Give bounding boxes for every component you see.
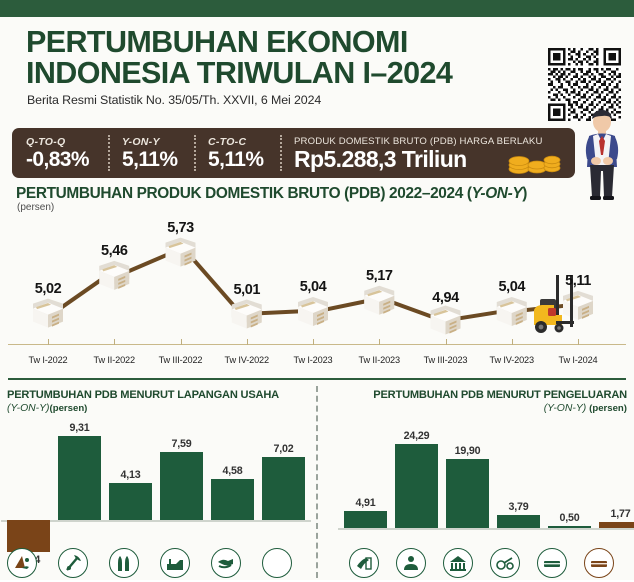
bar-value-label: 4,58: [222, 465, 242, 477]
bar-value-label: 4,91: [355, 497, 375, 509]
top-green-bar: [0, 0, 634, 17]
x-axis-label: Tw III-2023: [424, 355, 468, 365]
stat-q-to-q: Q-TO-Q -0,83%: [12, 128, 108, 178]
datapoint-label: 5,17: [366, 268, 393, 284]
pengeluaran-icons: [318, 548, 634, 582]
bar-value-label: 1,77: [610, 508, 630, 520]
infographic-page: PERTUMBUHAN EKONOMI INDONESIA TRIWULAN I…: [0, 0, 634, 580]
bar-value-label: 3,79: [508, 501, 528, 513]
datapoint-label: 5,73: [167, 220, 194, 236]
x-axis-tick: [578, 339, 579, 345]
bar: [160, 452, 203, 520]
bar: [395, 444, 438, 528]
bar-value-label: 24,29: [404, 430, 430, 442]
government-icon[interactable]: [443, 548, 473, 578]
bar: [109, 483, 152, 520]
header: PERTUMBUHAN EKONOMI INDONESIA TRIWULAN I…: [0, 17, 634, 115]
stat-y-on-y-label: Y-ON-Y: [122, 136, 194, 148]
x-axis-tick: [114, 339, 115, 345]
x-axis-tick: [48, 339, 49, 345]
agriculture-icon[interactable]: [7, 548, 37, 578]
datapoint-label: 5,01: [233, 282, 260, 298]
bar-value-label: 7,59: [171, 438, 191, 450]
datapoint-label: 5,04: [498, 279, 525, 295]
x-axis-tick: [181, 339, 182, 345]
datapoint-label: 5,04: [300, 279, 327, 295]
bar: [548, 526, 591, 528]
x-axis-tick: [446, 339, 447, 345]
export-icon[interactable]: [537, 548, 567, 578]
construction-icon[interactable]: [160, 548, 190, 578]
lapangan-usaha-panel: PERTUMBUHAN PDB MENURUT LAPANGAN USAHA (…: [0, 386, 316, 580]
bar: [262, 457, 305, 520]
trade-icon[interactable]: [211, 548, 241, 578]
bar-value-label: 19,90: [455, 445, 481, 457]
coins-icon: [507, 148, 565, 174]
bar-value-label: 9,31: [69, 422, 89, 434]
x-axis-tick: [379, 339, 380, 345]
x-axis-label: Tw I-2023: [294, 355, 333, 365]
pdb-growth-chart-title-plain: PERTUMBUHAN PRODUK DOMESTIK BRUTO (PDB) …: [16, 185, 472, 202]
bar-baseline: [338, 528, 634, 530]
stat-y-on-y: Y-ON-Y 5,11%: [108, 128, 194, 178]
stat-pdb-harga-berlaku: PRODUK DOMESTIK BRUTO (PDB) HARGA BERLAK…: [280, 128, 575, 178]
stat-c-to-c: C-TO-C 5,11%: [194, 128, 280, 178]
household-icon[interactable]: [349, 548, 379, 578]
stat-c-to-c-value: 5,11%: [208, 149, 280, 171]
title-line-1: PERTUMBUHAN EKONOMI: [26, 27, 536, 58]
bar-value-label: 0,50: [559, 512, 579, 524]
x-axis-line: [8, 344, 626, 345]
x-axis-label: Tw III-2022: [159, 355, 203, 365]
stat-c-to-c-label: C-TO-C: [208, 136, 280, 148]
stat-y-on-y-value: 5,11%: [122, 149, 194, 171]
x-axis-tick: [313, 339, 314, 345]
pmtb-icon[interactable]: [490, 548, 520, 578]
datapoint-label: 5,46: [101, 243, 128, 259]
x-axis-label: Tw II-2022: [94, 355, 135, 365]
mining-icon[interactable]: [58, 548, 88, 578]
bar: [446, 459, 489, 528]
x-axis-label: Tw I-2022: [29, 355, 68, 365]
stat-q-to-q-value: -0,83%: [26, 149, 108, 171]
bar: [344, 511, 387, 528]
pdb-growth-chart-title-italic: Y-ON-Y: [472, 185, 523, 202]
page-title: PERTUMBUHAN EKONOMI INDONESIA TRIWULAN I…: [26, 27, 536, 89]
pdb-growth-chart-title: PERTUMBUHAN PRODUK DOMESTIK BRUTO (PDB) …: [16, 185, 527, 203]
bar: [599, 522, 634, 528]
x-axis-tick: [247, 339, 248, 345]
datapoint-label: 4,94: [432, 290, 459, 306]
x-axis-label: Tw II-2023: [359, 355, 400, 365]
bar-value-label: 4,13: [120, 469, 140, 481]
bar: [497, 515, 540, 528]
x-axis-tick: [512, 339, 513, 345]
header-subtitle: Berita Resmi Statistik No. 35/05/Th. XXV…: [27, 93, 321, 107]
datapoint-label: 5,11: [565, 273, 591, 289]
industry-icon[interactable]: [109, 548, 139, 578]
pdb-growth-chart: PERTUMBUHAN PRODUK DOMESTIK BRUTO (PDB) …: [0, 183, 634, 375]
pengeluaran-panel: PERTUMBUHAN PDB MENURUT PENGELUARAN (Y-O…: [318, 386, 634, 580]
title-line-2: INDONESIA TRIWULAN I–2024: [26, 58, 536, 89]
lnprt-icon[interactable]: [396, 548, 426, 578]
bar: [211, 479, 254, 520]
section-divider: [8, 378, 626, 380]
import-icon[interactable]: [584, 548, 614, 578]
pdb-growth-plot: 5,025,465,735,015,045,174,945,045,11Tw I…: [0, 211, 634, 375]
datapoint-label: 5,02: [35, 281, 62, 297]
other-sector-icon[interactable]: [262, 548, 292, 578]
bar: [58, 436, 101, 520]
pdb-growth-chart-title-close: ): [522, 185, 527, 202]
x-axis-label: Tw I-2024: [559, 355, 598, 365]
stat-q-to-q-label: Q-TO-Q: [26, 136, 108, 148]
x-axis-label: Tw IV-2022: [225, 355, 269, 365]
bar-value-label: 7,02: [273, 443, 293, 455]
x-axis-label: Tw IV-2023: [490, 355, 534, 365]
lapangan-usaha-icons: [0, 548, 316, 582]
key-stats-bar: Q-TO-Q -0,83% Y-ON-Y 5,11% C-TO-C 5,11% …: [12, 128, 575, 178]
